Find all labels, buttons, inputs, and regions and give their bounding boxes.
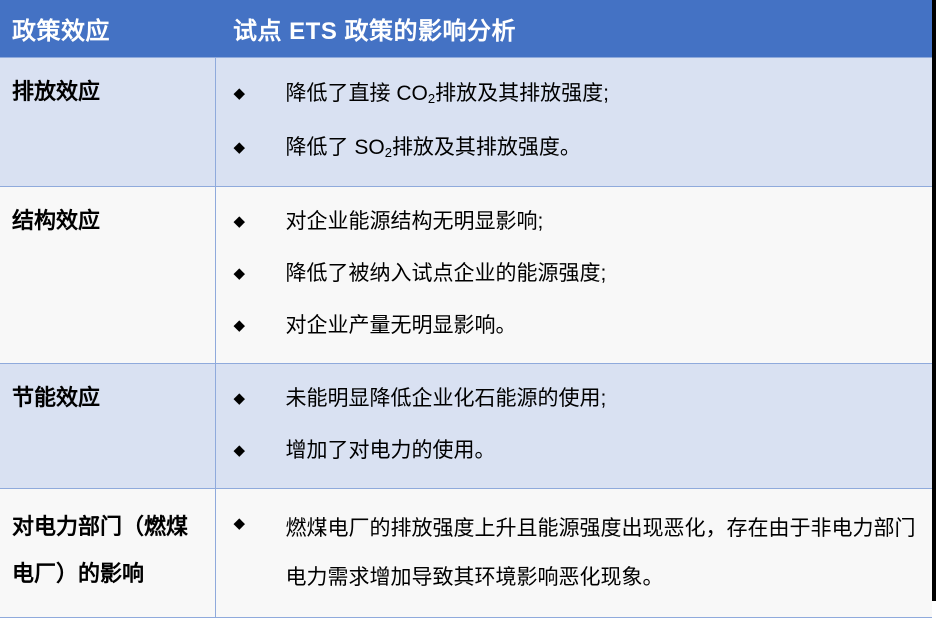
bullet-list: ◆ 降低了直接 CO2排放及其排放强度; ◆ 降低了 SO2排放及其排放强度。 xyxy=(234,68,923,176)
bullet-text: 对企业产量无明显影响。 xyxy=(286,306,923,347)
table-row: 结构效应 ◆ 对企业能源结构无明显影响; ◆ 降低了被纳入试点企业的能源强度; … xyxy=(0,186,932,363)
header-policy-effect: 政策效应 xyxy=(0,0,215,58)
bullet-text: 对企业能源结构无明显影响; xyxy=(286,202,923,243)
list-item: ◆ 未能明显降低企业化石能源的使用; xyxy=(234,374,923,426)
subscript: 2 xyxy=(385,145,392,160)
table-row: 节能效应 ◆ 未能明显降低企业化石能源的使用; ◆ 增加了对电力的使用。 xyxy=(0,363,932,488)
bullet-text: 燃煤电厂的排放强度上升且能源强度出现恶化，存在由于非电力部门电力需求增加导致其环… xyxy=(286,504,923,603)
row-label-structural-effect: 结构效应 xyxy=(0,186,215,363)
row-label-power-sector-impact: 对电力部门（燃煤电厂）的影响 xyxy=(0,488,215,618)
table-row: 排放效应 ◆ 降低了直接 CO2排放及其排放强度; ◆ 降低了 SO2排放及其排… xyxy=(0,58,932,187)
list-item: ◆ 降低了直接 CO2排放及其排放强度; xyxy=(234,68,923,122)
diamond-bullet-icon: ◆ xyxy=(234,254,286,295)
row-content-structural-effect: ◆ 对企业能源结构无明显影响; ◆ 降低了被纳入试点企业的能源强度; ◆ 对企业… xyxy=(215,186,932,363)
bullet-text: 降低了直接 CO2排放及其排放强度; xyxy=(286,74,923,115)
list-item: ◆ 降低了 SO2排放及其排放强度。 xyxy=(234,122,923,176)
bullet-text: 降低了被纳入试点企业的能源强度; xyxy=(286,254,923,295)
bullet-text: 未能明显降低企业化石能源的使用; xyxy=(286,379,923,420)
table-header-row: 政策效应 试点 ETS 政策的影响分析 xyxy=(0,0,932,58)
table-body: 排放效应 ◆ 降低了直接 CO2排放及其排放强度; ◆ 降低了 SO2排放及其排… xyxy=(0,58,932,618)
list-item: ◆ 增加了对电力的使用。 xyxy=(234,426,923,478)
header-impact-analysis: 试点 ETS 政策的影响分析 xyxy=(215,0,932,58)
diamond-bullet-icon: ◆ xyxy=(234,74,286,115)
diamond-bullet-icon: ◆ xyxy=(234,202,286,243)
list-item: ◆ 对企业能源结构无明显影响; xyxy=(234,197,923,249)
diamond-bullet-icon: ◆ xyxy=(234,306,286,347)
row-content-emission-effect: ◆ 降低了直接 CO2排放及其排放强度; ◆ 降低了 SO2排放及其排放强度。 xyxy=(215,58,932,187)
bullet-list: ◆ 对企业能源结构无明显影响; ◆ 降低了被纳入试点企业的能源强度; ◆ 对企业… xyxy=(234,197,923,353)
row-content-power-sector-impact: ◆ 燃煤电厂的排放强度上升且能源强度出现恶化，存在由于非电力部门电力需求增加导致… xyxy=(215,488,932,618)
diamond-bullet-icon: ◆ xyxy=(234,431,286,472)
policy-effects-table: 政策效应 试点 ETS 政策的影响分析 排放效应 ◆ 降低了直接 CO2排放及其… xyxy=(0,0,932,618)
row-content-energy-saving-effect: ◆ 未能明显降低企业化石能源的使用; ◆ 增加了对电力的使用。 xyxy=(215,363,932,488)
list-item: ◆ 燃煤电厂的排放强度上升且能源强度出现恶化，存在由于非电力部门电力需求增加导致… xyxy=(234,499,923,608)
table-row: 对电力部门（燃煤电厂）的影响 ◆ 燃煤电厂的排放强度上升且能源强度出现恶化，存在… xyxy=(0,488,932,618)
diamond-bullet-icon: ◆ xyxy=(234,128,286,169)
list-item: ◆ 降低了被纳入试点企业的能源强度; xyxy=(234,249,923,301)
policy-effects-table-container: 政策效应 试点 ETS 政策的影响分析 排放效应 ◆ 降低了直接 CO2排放及其… xyxy=(0,0,936,601)
bullet-list: ◆ 燃煤电厂的排放强度上升且能源强度出现恶化，存在由于非电力部门电力需求增加导致… xyxy=(234,499,923,608)
list-item: ◆ 对企业产量无明显影响。 xyxy=(234,301,923,353)
diamond-bullet-icon: ◆ xyxy=(234,504,286,545)
row-label-emission-effect: 排放效应 xyxy=(0,58,215,187)
bullet-list: ◆ 未能明显降低企业化石能源的使用; ◆ 增加了对电力的使用。 xyxy=(234,374,923,478)
bullet-text: 降低了 SO2排放及其排放强度。 xyxy=(286,128,923,169)
subscript: 2 xyxy=(428,91,435,106)
bullet-text: 增加了对电力的使用。 xyxy=(286,431,923,472)
row-label-energy-saving-effect: 节能效应 xyxy=(0,363,215,488)
diamond-bullet-icon: ◆ xyxy=(234,379,286,420)
